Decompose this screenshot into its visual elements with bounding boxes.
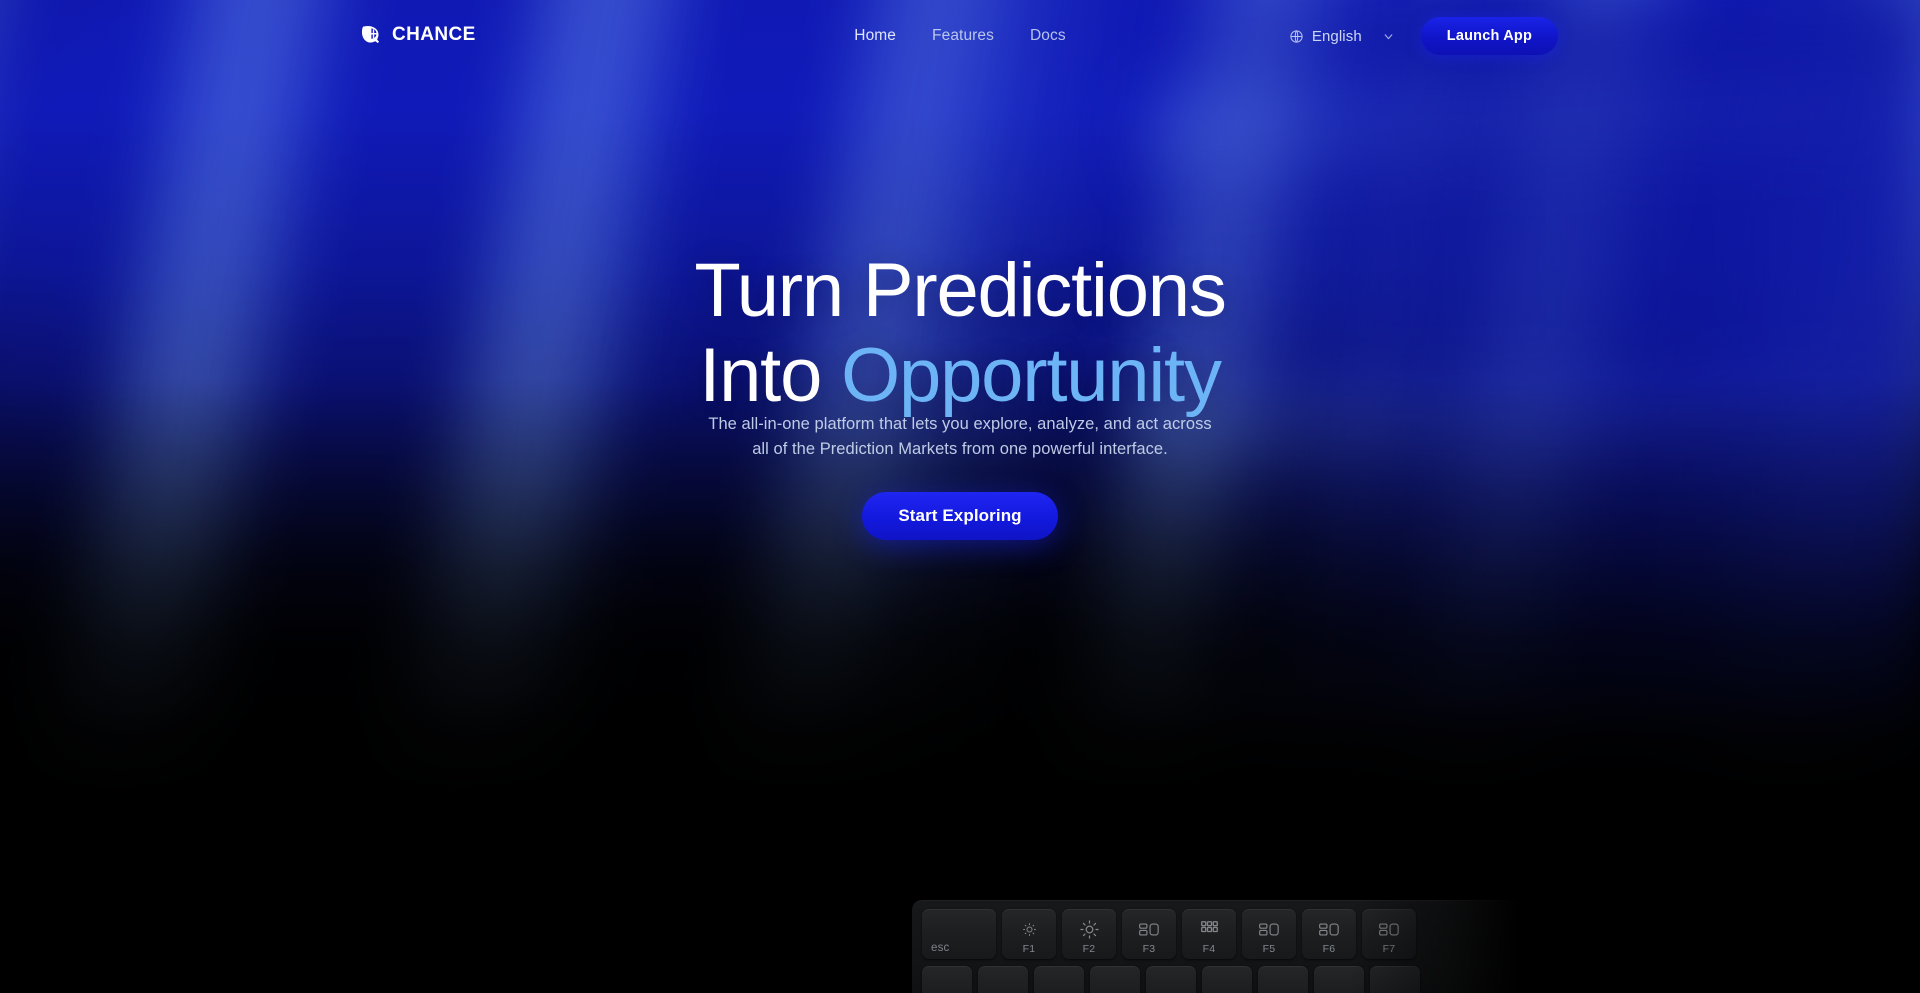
hero-title: Turn Predictions Into Opportunity bbox=[0, 248, 1920, 418]
key-esc[interactable]: esc bbox=[922, 909, 996, 959]
key-num-5[interactable] bbox=[1202, 966, 1252, 993]
key-num-6[interactable] bbox=[1258, 966, 1308, 993]
launchpad-icon bbox=[1182, 920, 1236, 938]
chevron-down-icon bbox=[1370, 30, 1395, 43]
key-label: F2 bbox=[1083, 944, 1096, 955]
language-selector[interactable]: English bbox=[1289, 28, 1395, 45]
key-label: F6 bbox=[1323, 944, 1336, 955]
mission-control-icon bbox=[1302, 920, 1356, 938]
hero-title-line2-prefix: Into bbox=[699, 333, 841, 418]
brightness-up-icon bbox=[1062, 920, 1116, 938]
hero-subtitle: The all-in-one platform that lets you ex… bbox=[700, 412, 1220, 462]
keyboard-graphic: escF1F2F3F4F5F6F7 bbox=[912, 900, 1520, 993]
key-tilde-0[interactable] bbox=[922, 966, 972, 993]
start-exploring-button[interactable]: Start Exploring bbox=[862, 492, 1057, 540]
key-f7[interactable]: F7 bbox=[1362, 909, 1416, 959]
key-label: F1 bbox=[1023, 944, 1036, 955]
brand-name: CHANCE bbox=[392, 25, 476, 44]
hero-title-line1: Turn Predictions bbox=[694, 248, 1225, 333]
nav-item-features[interactable]: Features bbox=[932, 27, 994, 45]
mission-control-icon bbox=[1362, 920, 1416, 938]
mission-control-icon bbox=[1122, 920, 1176, 938]
key-label: F5 bbox=[1263, 944, 1276, 955]
key-f1[interactable]: F1 bbox=[1002, 909, 1056, 959]
launch-app-button[interactable]: Launch App bbox=[1421, 17, 1558, 55]
globe-icon bbox=[1289, 29, 1304, 44]
hero-title-accent: Opportunity bbox=[841, 333, 1221, 418]
key-num-2[interactable] bbox=[1034, 966, 1084, 993]
key-label: F3 bbox=[1143, 944, 1156, 955]
key-f4[interactable]: F4 bbox=[1182, 909, 1236, 959]
keyboard-function-row: escF1F2F3F4F5F6F7 bbox=[922, 909, 1520, 959]
key-label: F4 bbox=[1203, 944, 1216, 955]
key-f3[interactable]: F3 bbox=[1122, 909, 1176, 959]
nav-item-docs[interactable]: Docs bbox=[1030, 27, 1066, 45]
nav-item-home[interactable]: Home bbox=[854, 27, 896, 45]
key-label: F7 bbox=[1383, 944, 1396, 955]
key-num-7[interactable] bbox=[1314, 966, 1364, 993]
key-num-1[interactable] bbox=[978, 966, 1028, 993]
key-f6[interactable]: F6 bbox=[1302, 909, 1356, 959]
landing-page: CHANCE Home Features Docs English bbox=[0, 0, 1920, 993]
key-f2[interactable]: F2 bbox=[1062, 909, 1116, 959]
brightness-down-icon bbox=[1002, 920, 1056, 938]
site-header: CHANCE Home Features Docs English bbox=[0, 0, 1920, 72]
hero-cta-wrap: Start Exploring bbox=[0, 492, 1920, 540]
mission-control-icon bbox=[1242, 920, 1296, 938]
key-num-3[interactable] bbox=[1090, 966, 1140, 993]
key-f5[interactable]: F5 bbox=[1242, 909, 1296, 959]
key-label: esc bbox=[931, 943, 950, 955]
key-num-4[interactable] bbox=[1146, 966, 1196, 993]
main-nav: Home Features Docs bbox=[0, 0, 1920, 72]
header-actions: English Launch App bbox=[1289, 17, 1558, 55]
key-num-8[interactable] bbox=[1370, 966, 1420, 993]
keyboard-number-row bbox=[922, 966, 1520, 993]
language-label: English bbox=[1312, 28, 1362, 45]
chance-leaf-icon bbox=[362, 23, 385, 46]
brand-logo[interactable]: CHANCE bbox=[362, 23, 476, 46]
